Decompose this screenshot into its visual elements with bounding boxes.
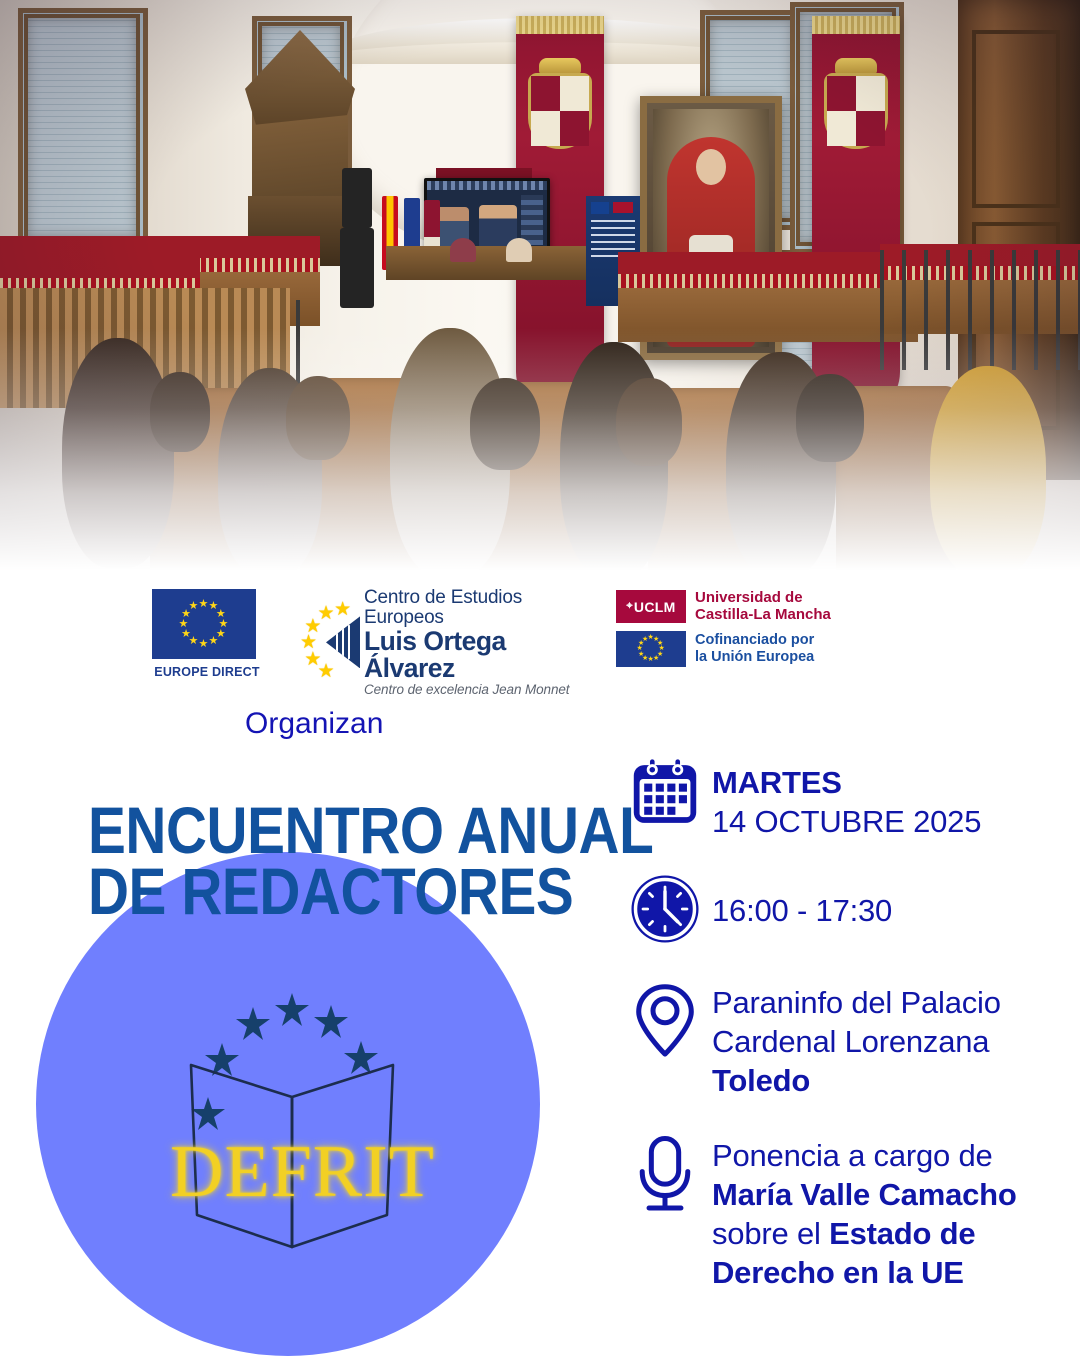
title-line-1: ENCUENTRO ANUAL — [88, 800, 535, 861]
uclm-line2: Castilla-La Mancha — [695, 607, 831, 624]
eu-star: ★ — [199, 639, 209, 650]
time-text: 16:00 - 17:30 — [712, 889, 892, 930]
detail-date: MARTES 14 OCTUBRE 2025 — [628, 757, 1068, 841]
location-text: Paraninfo del Palacio Cardenal Lorenzana… — [712, 981, 1001, 1100]
photo-white-fade — [0, 328, 1080, 578]
speaker-name: María Valle Camacho — [712, 1175, 1017, 1214]
logo-uclm: ⌖ UCLM Universidad de Castilla-La Mancha… — [616, 590, 856, 674]
cee-line1: Centro de Estudios Europeos — [364, 588, 596, 628]
defrit-wordmark: DEFRIT — [170, 1130, 415, 1215]
cee-star: ★ — [334, 600, 351, 619]
detail-time: 16:00 - 17:30 — [628, 867, 1068, 951]
event-details: MARTES 14 OCTUBRE 2025 — [628, 757, 1068, 1318]
microphone-icon — [628, 1134, 712, 1218]
eu-star: ★ — [209, 636, 219, 647]
clock-icon — [628, 867, 712, 951]
logo-strip: ★★★★★★★★★★★★ EUROPE DIRECT ★★★★★★ Centro… — [0, 586, 1080, 696]
uclm-mark-label: UCLM — [634, 599, 676, 615]
cee-stars-fan-icon: ★★★★★★ — [296, 598, 358, 686]
location-line2: Cardenal Lorenzana — [712, 1022, 1001, 1061]
speaker-topic-bold: Estado de — [829, 1216, 975, 1251]
uclm-pin-icon: ⌖ — [626, 600, 633, 613]
location-city: Toledo — [712, 1061, 1001, 1100]
page-title: ENCUENTRO ANUAL DE REDACTORES — [88, 800, 535, 923]
location-line1: Paraninfo del Palacio — [712, 983, 1001, 1022]
cee-line2: Luis Ortega Álvarez — [364, 628, 596, 683]
speaker-intro: Ponencia a cargo de — [712, 1136, 1017, 1175]
speaker-topic-line2: Derecho en la UE — [712, 1253, 1017, 1292]
eu-star: ★ — [179, 619, 189, 630]
location-pin-icon — [628, 981, 712, 1065]
title-line-2: DE REDACTORES — [88, 861, 535, 922]
organizan-label: Organizan — [245, 707, 383, 741]
uclm-mark: ⌖ UCLM — [616, 590, 686, 623]
eu-star: ★ — [199, 599, 209, 610]
eu-star: ★ — [642, 636, 648, 643]
cofin-line1: Cofinanciado por — [695, 632, 814, 649]
cee-line3: Centro de excelencia Jean Monnet — [364, 683, 596, 697]
eu-star: ★ — [181, 629, 191, 640]
defrit-logo: DEFRIT — [175, 985, 410, 1260]
detail-speaker: Ponencia a cargo de María Valle Camacho … — [628, 1134, 1068, 1292]
cee-star: ★ — [318, 604, 335, 623]
cofinanciado-row: ★★★★★★★★★★★★ Cofinanciado por la Unión E… — [616, 631, 856, 667]
cee-text-block: Centro de Estudios Europeos Luis Ortega … — [364, 588, 596, 697]
speaker-topic-prefix: sobre el — [712, 1216, 829, 1251]
open-book-with-eu-stars-icon — [175, 985, 410, 1260]
calendar-icon — [628, 757, 712, 841]
date-weekday: MARTES — [712, 763, 981, 802]
eu-flag-icon: ★★★★★★★★★★★★ — [152, 589, 256, 659]
uclm-row: ⌖ UCLM Universidad de Castilla-La Mancha — [616, 590, 856, 624]
speaker-topic-line1: sobre el Estado de — [712, 1214, 1017, 1253]
speaker-text: Ponencia a cargo de María Valle Camacho … — [712, 1134, 1017, 1292]
logo-europe-direct: ★★★★★★★★★★★★ EUROPE DIRECT — [152, 589, 262, 679]
uclm-line1: Universidad de — [695, 590, 831, 607]
eu-star: ★ — [648, 656, 654, 663]
uclm-name: Universidad de Castilla-La Mancha — [695, 590, 831, 624]
eu-flag-small-icon: ★★★★★★★★★★★★ — [616, 631, 686, 667]
europe-direct-label: EUROPE DIRECT — [152, 665, 262, 679]
logo-centro-estudios-europeos: ★★★★★★ Centro de Estudios Europeos Luis … — [296, 588, 596, 697]
date-text: MARTES 14 OCTUBRE 2025 — [712, 757, 981, 841]
date-value: 14 OCTUBRE 2025 — [712, 802, 981, 841]
cofin-line2: la Unión Europea — [695, 649, 814, 666]
cofinanciado-text: Cofinanciado por la Unión Europea — [695, 632, 814, 665]
header-photo — [0, 0, 1080, 578]
eu-star: ★ — [189, 601, 199, 612]
detail-location: Paraninfo del Palacio Cardenal Lorenzana… — [628, 981, 1068, 1100]
